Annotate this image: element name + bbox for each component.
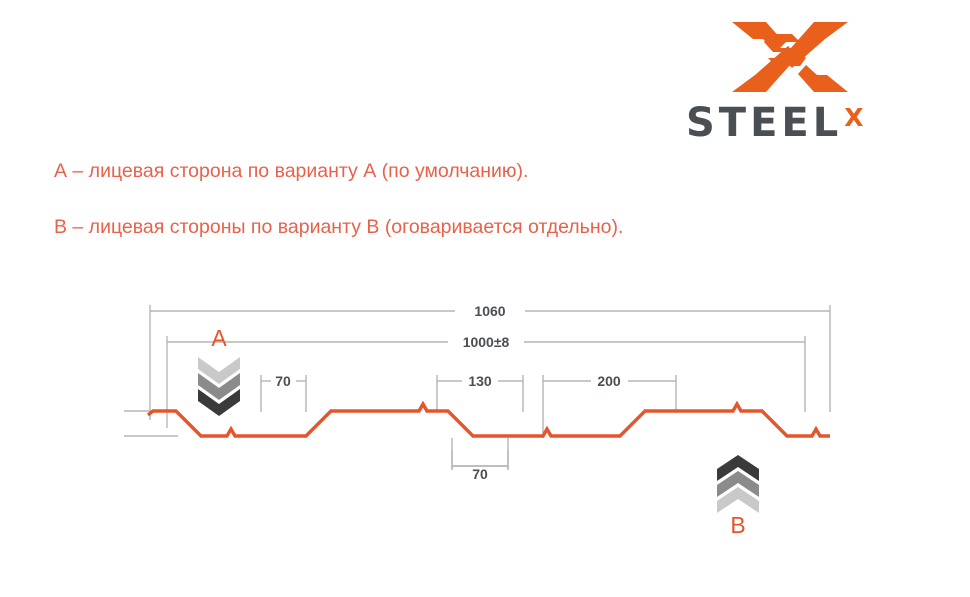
- marker-a-chevrons: [196, 355, 242, 417]
- marker-b-chevrons: [715, 455, 761, 517]
- marker-b-label: В: [715, 512, 761, 539]
- marker-a-label: А: [196, 325, 242, 352]
- page-root: STEELX А – лицевая сторона по варианту А…: [0, 0, 970, 597]
- dim-label-70-top: 70: [275, 373, 291, 389]
- sheet-profile: [0, 396, 970, 470]
- dim-label-1000: 1000±8: [463, 334, 510, 350]
- dim-label-1060: 1060: [474, 303, 505, 319]
- dim-label-130: 130: [468, 373, 492, 389]
- profile-technical-drawing: 1060 1000±8 70 130 200 70 35: [0, 0, 970, 597]
- dim-label-200: 200: [597, 373, 621, 389]
- dim-label-70-bottom: 70: [472, 466, 488, 482]
